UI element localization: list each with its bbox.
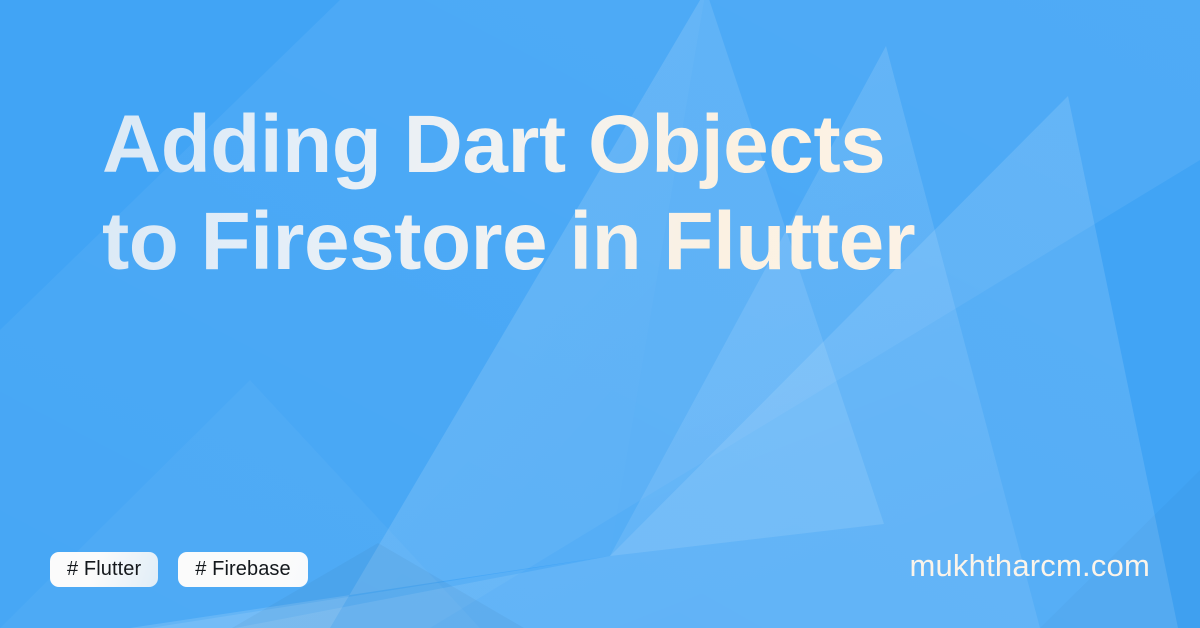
tag-flutter[interactable]: # Flutter: [50, 552, 158, 587]
page-title: Adding Dart Objects to Firestore in Flut…: [102, 96, 962, 290]
tag-list: # Flutter # Firebase: [50, 552, 308, 587]
site-url: mukhtharcm.com: [909, 548, 1150, 584]
tag-firebase[interactable]: # Firebase: [178, 552, 308, 587]
card-content: Adding Dart Objects to Firestore in Flut…: [0, 0, 1200, 628]
social-share-card: Adding Dart Objects to Firestore in Flut…: [0, 0, 1200, 628]
